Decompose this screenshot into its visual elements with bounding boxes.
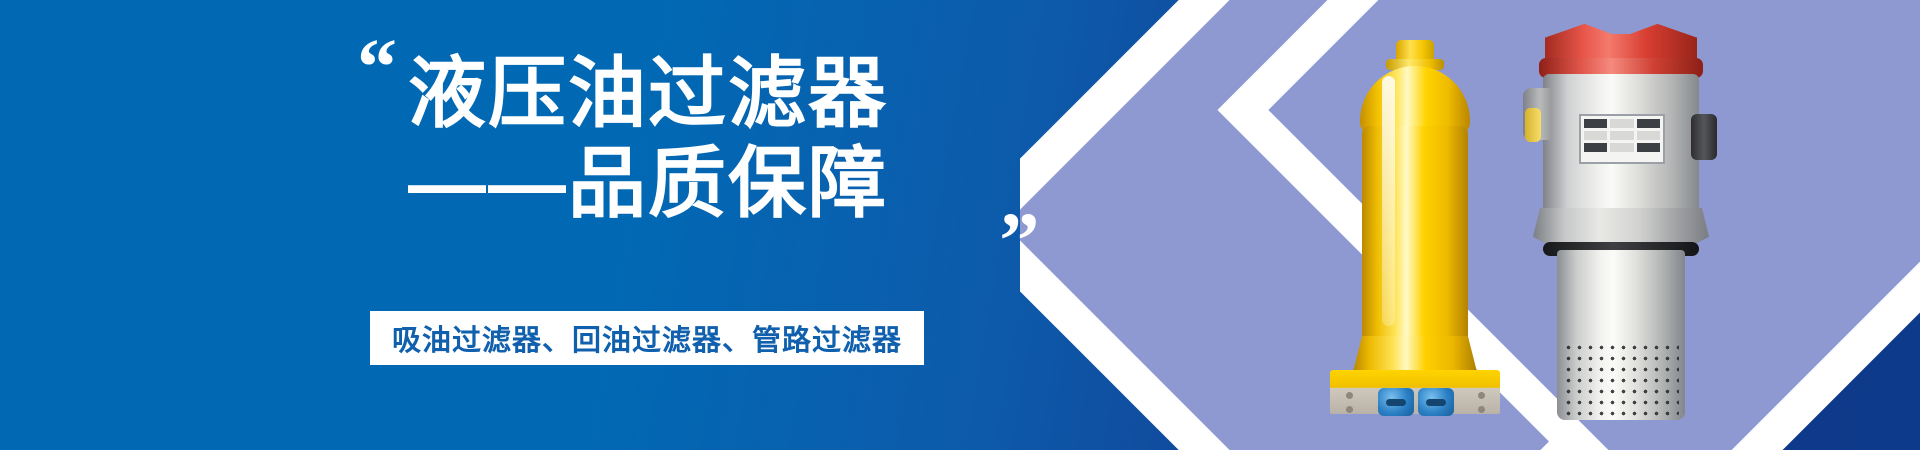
- filter-mounting-plate: [1330, 388, 1500, 414]
- quote-close-icon: „: [1000, 160, 1040, 240]
- spec-nameplate: [1579, 114, 1665, 164]
- filter-body: [1362, 126, 1468, 354]
- product-gray-return-filter: [1505, 22, 1735, 422]
- quote-open-icon: “: [357, 28, 397, 108]
- banner-copy: “ 液压油过滤器 ——品质保障 „ 吸油过滤器、回油过滤器、管路过滤器: [0, 0, 1060, 450]
- port-blue-cap: [1378, 388, 1414, 416]
- headline-line-1: 液压油过滤器: [408, 52, 888, 135]
- side-port-plug: [1525, 108, 1541, 142]
- bolt-icon: [1478, 406, 1485, 413]
- filter-highlight: [1382, 76, 1395, 326]
- black-indicator-knob: [1691, 114, 1717, 160]
- port-blue-cap: [1418, 388, 1454, 416]
- product-yellow-hydraulic-filter: [1330, 40, 1500, 410]
- hydraulic-filter-banner: “ 液压油过滤器 ——品质保障 „ 吸油过滤器、回油过滤器、管路过滤器: [0, 0, 1920, 450]
- subtitle-box: 吸油过滤器、回油过滤器、管路过滤器: [370, 311, 924, 365]
- subtitle-text: 吸油过滤器、回油过滤器、管路过滤器: [392, 317, 902, 359]
- bolt-icon: [1478, 392, 1485, 399]
- perforated-screen: [1563, 342, 1679, 416]
- bolt-icon: [1346, 392, 1353, 399]
- bolt-icon: [1346, 406, 1353, 413]
- headline-line-2: ——品质保障: [408, 142, 888, 225]
